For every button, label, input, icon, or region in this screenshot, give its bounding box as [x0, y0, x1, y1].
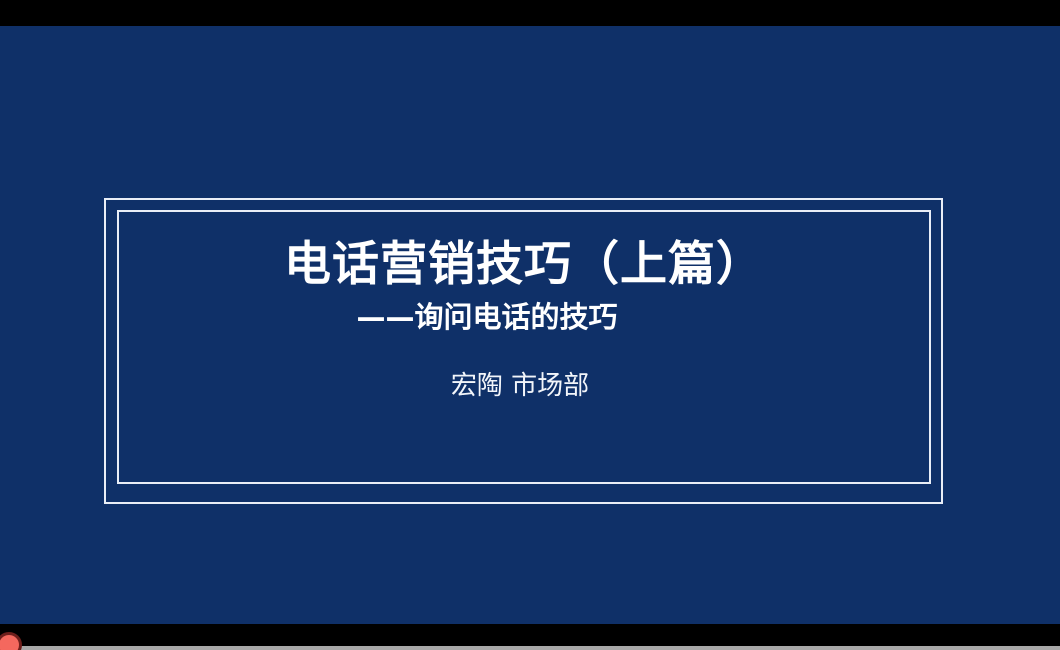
presentation-slide: 电话营销技巧（上篇） ——询问电话的技巧 宏陶 市场部: [0, 26, 1060, 624]
letterbox-bar-top: [0, 0, 1060, 26]
slide-title: 电话营销技巧（上篇）: [284, 238, 764, 292]
video-player-screen: 电话营销技巧（上篇） ——询问电话的技巧 宏陶 市场部: [0, 0, 1060, 650]
letterbox-bar-bottom: [0, 624, 1060, 646]
slide-subtitle: ——询问电话的技巧: [356, 300, 691, 335]
slide-author: 宏陶 市场部: [451, 371, 597, 402]
player-progress-bar[interactable]: [0, 646, 1060, 650]
slide-text-block: 电话营销技巧（上篇） ——询问电话的技巧 宏陶 市场部: [117, 210, 931, 484]
